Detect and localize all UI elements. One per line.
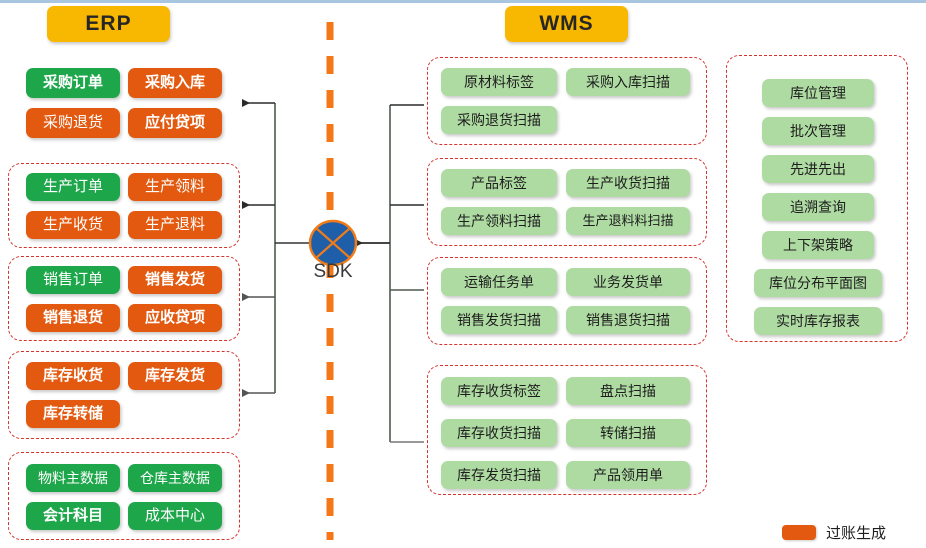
erp-node-cost-center[interactable]: 成本中心 (128, 502, 222, 530)
wms-node-inventory-receipt-label[interactable]: 库存收货标签 (441, 377, 557, 405)
wms-node-product-requisition-order[interactable]: 产品领用单 (566, 461, 690, 489)
wms-node-purchase-return-scan[interactable]: 采购退货扫描 (441, 106, 557, 134)
erp-section-title: ERP (47, 6, 170, 42)
erp-node-production-issue[interactable]: 生产领料 (128, 173, 222, 201)
erp-node-production-return[interactable]: 生产退料 (128, 211, 222, 239)
wms-node-business-delivery-order[interactable]: 业务发货单 (566, 268, 690, 296)
wms-node-transfer-scan[interactable]: 转储扫描 (566, 419, 690, 447)
sdk-hub-graphic (310, 221, 356, 265)
erp-node-warehouse-master[interactable]: 仓库主数据 (128, 464, 222, 492)
feature-node-fifo[interactable]: 先进先出 (762, 155, 874, 183)
wms-node-stocktaking-scan[interactable]: 盘点扫描 (566, 377, 690, 405)
wms-node-sales-return-scan[interactable]: 销售退货扫描 (566, 306, 690, 334)
sdk-hub-label: SDK (297, 261, 369, 283)
wms-node-raw-material-label[interactable]: 原材料标签 (441, 68, 557, 96)
erp-node-inventory-transfer[interactable]: 库存转储 (26, 400, 120, 428)
wms-node-production-issue-scan[interactable]: 生产领料扫描 (441, 207, 557, 235)
feature-node-bin-management[interactable]: 库位管理 (762, 79, 874, 107)
legend-color-swatch (782, 525, 816, 540)
wms-node-purchase-receipt-scan[interactable]: 采购入库扫描 (566, 68, 690, 96)
wms-node-sales-delivery-scan[interactable]: 销售发货扫描 (441, 306, 557, 334)
erp-node-inventory-issue[interactable]: 库存发货 (128, 362, 222, 390)
wms-node-production-return-scan[interactable]: 生产退料料扫描 (566, 207, 690, 235)
erp-node-material-master[interactable]: 物料主数据 (26, 464, 120, 492)
feature-node-bin-layout-map[interactable]: 库位分布平面图 (754, 269, 882, 297)
erp-node-purchase-order[interactable]: 采购订单 (26, 68, 120, 98)
wms-node-product-label[interactable]: 产品标签 (441, 169, 557, 197)
feature-node-realtime-stock-report[interactable]: 实时库存报表 (754, 307, 882, 335)
erp-node-sales-return[interactable]: 销售退货 (26, 304, 120, 332)
wms-node-inventory-issue-scan[interactable]: 库存发货扫描 (441, 461, 557, 489)
top-rule (0, 0, 926, 3)
wms-node-production-receipt-scan[interactable]: 生产收货扫描 (566, 169, 690, 197)
wms-node-inventory-receipt-scan[interactable]: 库存收货扫描 (441, 419, 557, 447)
legend-label: 过账生成 (826, 522, 886, 543)
diagram-canvas: ERP 采购入库 采购订单 采购退货 应付贷项 生产订单 生产领料 生产收货 生… (0, 0, 926, 548)
wms-node-transport-task-order[interactable]: 运输任务单 (441, 268, 557, 296)
erp-node-production-order[interactable]: 生产订单 (26, 173, 120, 201)
erp-node-production-receipt[interactable]: 生产收货 (26, 211, 120, 239)
legend: 过账生成 (782, 522, 886, 543)
erp-node-purchase-receipt[interactable]: 采购入库 (128, 68, 222, 98)
erp-node-inventory-receipt[interactable]: 库存收货 (26, 362, 120, 390)
feature-node-putaway-strategy[interactable]: 上下架策略 (762, 231, 874, 259)
erp-node-sales-order[interactable]: 销售订单 (26, 266, 120, 294)
erp-node-accounting-subject[interactable]: 会计科目 (26, 502, 120, 530)
wms-section-title: WMS (505, 6, 628, 42)
feature-node-traceability-query[interactable]: 追溯查询 (762, 193, 874, 221)
erp-node-receivable-credit[interactable]: 应收贷项 (128, 304, 222, 332)
erp-node-payable-credit[interactable]: 应付贷项 (128, 108, 222, 138)
erp-node-sales-delivery[interactable]: 销售发货 (128, 266, 222, 294)
feature-node-batch-management[interactable]: 批次管理 (762, 117, 874, 145)
erp-node-purchase-return[interactable]: 采购退货 (26, 108, 120, 138)
